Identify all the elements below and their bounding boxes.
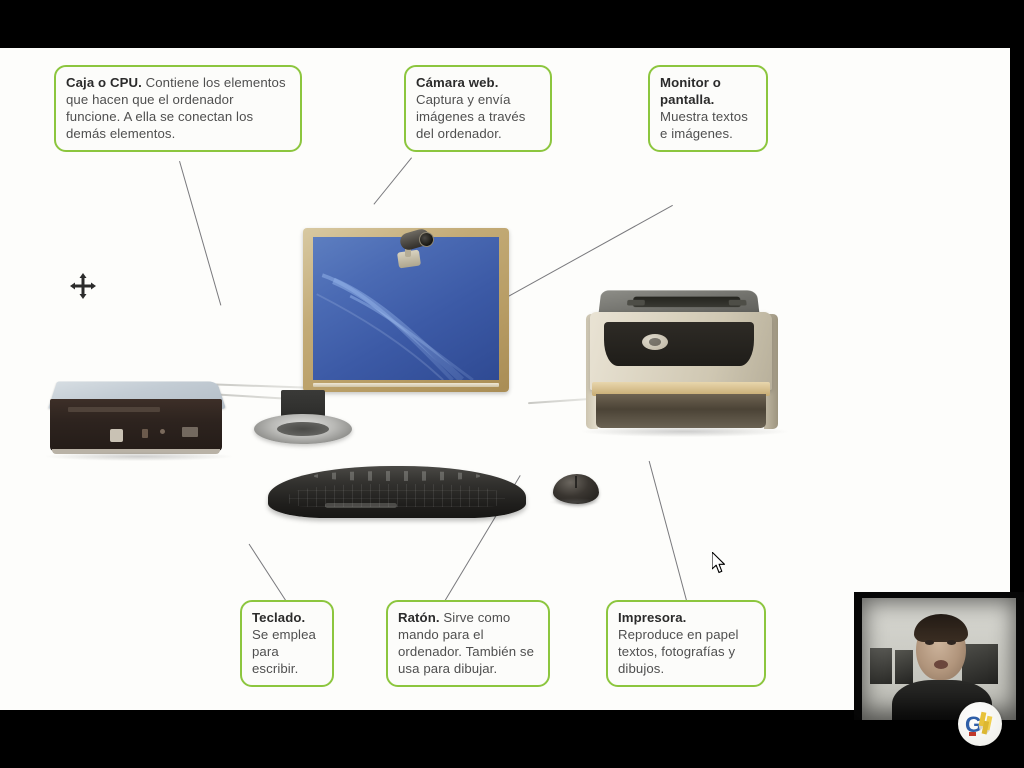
move-cursor[interactable] <box>70 273 96 299</box>
cpu-badge <box>182 427 198 437</box>
keyboard-spacebar <box>325 503 397 508</box>
printer-output-tray <box>633 297 741 308</box>
printer-body <box>590 312 772 390</box>
logo-icon: G <box>958 702 1002 746</box>
leader-line-cpu <box>179 161 222 306</box>
callout-mouse-heading: Ratón. <box>398 610 440 625</box>
mouse-button-split <box>575 476 577 489</box>
keyboard-keys <box>289 484 506 507</box>
printer-front-lid <box>604 322 754 366</box>
cpu-led <box>142 429 148 438</box>
move-cursor-icon <box>70 273 96 299</box>
arrow-cursor-icon <box>712 552 728 574</box>
printer-logo-icon <box>642 334 668 350</box>
cpu-optical-drive <box>68 407 160 412</box>
keyboard-body <box>268 466 526 518</box>
callout-monitor-heading: Monitor o pantalla. <box>660 75 721 107</box>
cable-upper <box>212 383 308 388</box>
arrow-cursor[interactable] <box>712 552 728 574</box>
printer-shadow <box>582 426 788 437</box>
monitor-bottom-strip <box>313 383 499 387</box>
cpu-shadow <box>46 452 232 461</box>
callout-webcam-body: Captura y envía imágenes a través del or… <box>416 92 525 141</box>
screen: Caja o CPU. Contiene los elementos que h… <box>0 0 1024 768</box>
callout-webcam[interactable]: Cámara web. Captura y envía imágenes a t… <box>404 65 552 152</box>
leader-line-monitor <box>508 205 673 297</box>
keyboard-image <box>268 466 526 518</box>
callout-cpu-heading: Caja o CPU. <box>66 75 142 90</box>
callout-webcam-heading: Cámara web. <box>416 75 498 90</box>
callout-cpu[interactable]: Caja o CPU. Contiene los elementos que h… <box>54 65 302 152</box>
logo-accent <box>969 732 976 736</box>
callout-printer-body: Reproduce en papel textos, fotografías y… <box>618 627 739 676</box>
callout-monitor[interactable]: Monitor o pantalla. Muestra textos e imá… <box>648 65 768 152</box>
keyboard-function-row <box>314 471 479 480</box>
printer-paper-slot <box>596 394 766 428</box>
cpu-front-panel <box>50 399 222 451</box>
cable-printer <box>528 398 592 404</box>
callout-printer-heading: Impresora. <box>618 610 686 625</box>
cpu-usb-port <box>160 429 165 434</box>
leader-line-keyboard <box>249 544 291 608</box>
callout-keyboard-heading: Teclado. <box>252 610 305 625</box>
leader-line-webcam <box>373 157 412 204</box>
printer-tray-guide-right <box>729 300 747 306</box>
mouse-shadow <box>549 498 601 506</box>
monitor-base <box>254 414 352 444</box>
callout-keyboard[interactable]: Teclado. Se emplea para escribir. <box>240 600 334 687</box>
webcam-video[interactable] <box>854 592 1024 720</box>
leader-line-printer <box>649 461 690 608</box>
site-logo[interactable]: G <box>958 702 1002 746</box>
callout-printer[interactable]: Impresora. Reproduce en papel textos, fo… <box>606 600 766 687</box>
printer-tray-guide-left <box>627 300 645 306</box>
cpu-power-button <box>110 429 123 442</box>
callout-mouse[interactable]: Ratón. Sirve como mando para el ordenado… <box>386 600 550 687</box>
callout-keyboard-body: Se emplea para escribir. <box>252 627 316 676</box>
mouse-image <box>553 474 599 504</box>
callout-monitor-body: Muestra textos e imágenes. <box>660 109 748 141</box>
video-vignette <box>854 592 1024 720</box>
